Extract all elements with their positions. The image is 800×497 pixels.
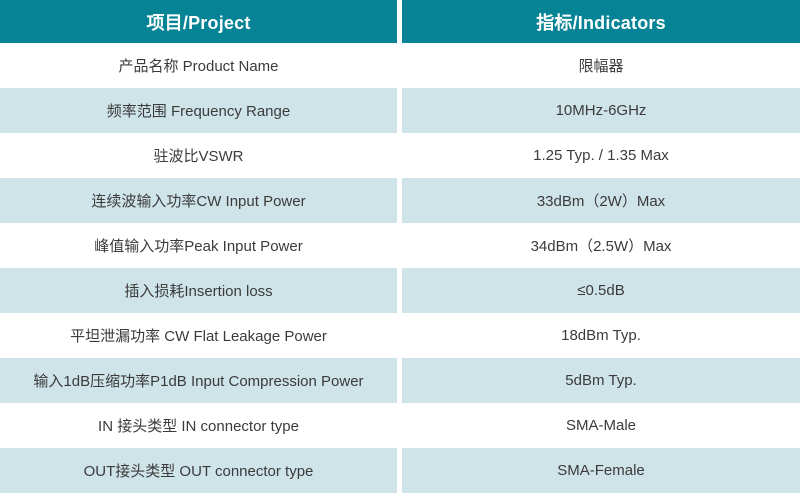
table-row: 峰值输入功率Peak Input Power34dBm（2.5W）Max	[0, 223, 800, 268]
cell-indicator: SMA-Female	[402, 448, 800, 493]
cell-project: 平坦泄漏功率 CW Flat Leakage Power	[0, 313, 397, 358]
table-row: 插入损耗Insertion loss≤0.5dB	[0, 268, 800, 313]
table-row: 产品名称 Product Name限幅器	[0, 43, 800, 88]
cell-indicator: SMA-Male	[402, 403, 800, 448]
cell-project: 插入损耗Insertion loss	[0, 268, 397, 313]
table-row: 平坦泄漏功率 CW Flat Leakage Power18dBm Typ.	[0, 313, 800, 358]
cell-project: 驻波比VSWR	[0, 133, 397, 178]
cell-indicator: 33dBm（2W）Max	[402, 178, 800, 223]
table-header: 项目/Project 指标/Indicators	[0, 0, 800, 43]
column-header-project: 项目/Project	[0, 0, 397, 43]
cell-indicator: 5dBm Typ.	[402, 358, 800, 403]
table-row: 驻波比VSWR1.25 Typ. / 1.35 Max	[0, 133, 800, 178]
specification-table: 项目/Project 指标/Indicators 产品名称 Product Na…	[0, 0, 800, 493]
cell-project: 连续波输入功率CW Input Power	[0, 178, 397, 223]
table-row: 连续波输入功率CW Input Power33dBm（2W）Max	[0, 178, 800, 223]
cell-project: 峰值输入功率Peak Input Power	[0, 223, 397, 268]
cell-project: 输入1dB压缩功率P1dB Input Compression Power	[0, 358, 397, 403]
cell-indicator: ≤0.5dB	[402, 268, 800, 313]
cell-indicator: 限幅器	[402, 43, 800, 88]
column-header-indicators: 指标/Indicators	[402, 0, 800, 43]
table-row: 输入1dB压缩功率P1dB Input Compression Power5dB…	[0, 358, 800, 403]
cell-project: OUT接头类型 OUT connector type	[0, 448, 397, 493]
table-row: OUT接头类型 OUT connector typeSMA-Female	[0, 448, 800, 493]
cell-indicator: 18dBm Typ.	[402, 313, 800, 358]
cell-project: IN 接头类型 IN connector type	[0, 403, 397, 448]
cell-project: 频率范围 Frequency Range	[0, 88, 397, 133]
cell-indicator: 1.25 Typ. / 1.35 Max	[402, 133, 800, 178]
table-row: IN 接头类型 IN connector typeSMA-Male	[0, 403, 800, 448]
table-row: 频率范围 Frequency Range10MHz-6GHz	[0, 88, 800, 133]
table-body: 产品名称 Product Name限幅器频率范围 Frequency Range…	[0, 43, 800, 493]
cell-indicator: 10MHz-6GHz	[402, 88, 800, 133]
cell-indicator: 34dBm（2.5W）Max	[402, 223, 800, 268]
cell-project: 产品名称 Product Name	[0, 43, 397, 88]
table-header-row: 项目/Project 指标/Indicators	[0, 0, 800, 43]
